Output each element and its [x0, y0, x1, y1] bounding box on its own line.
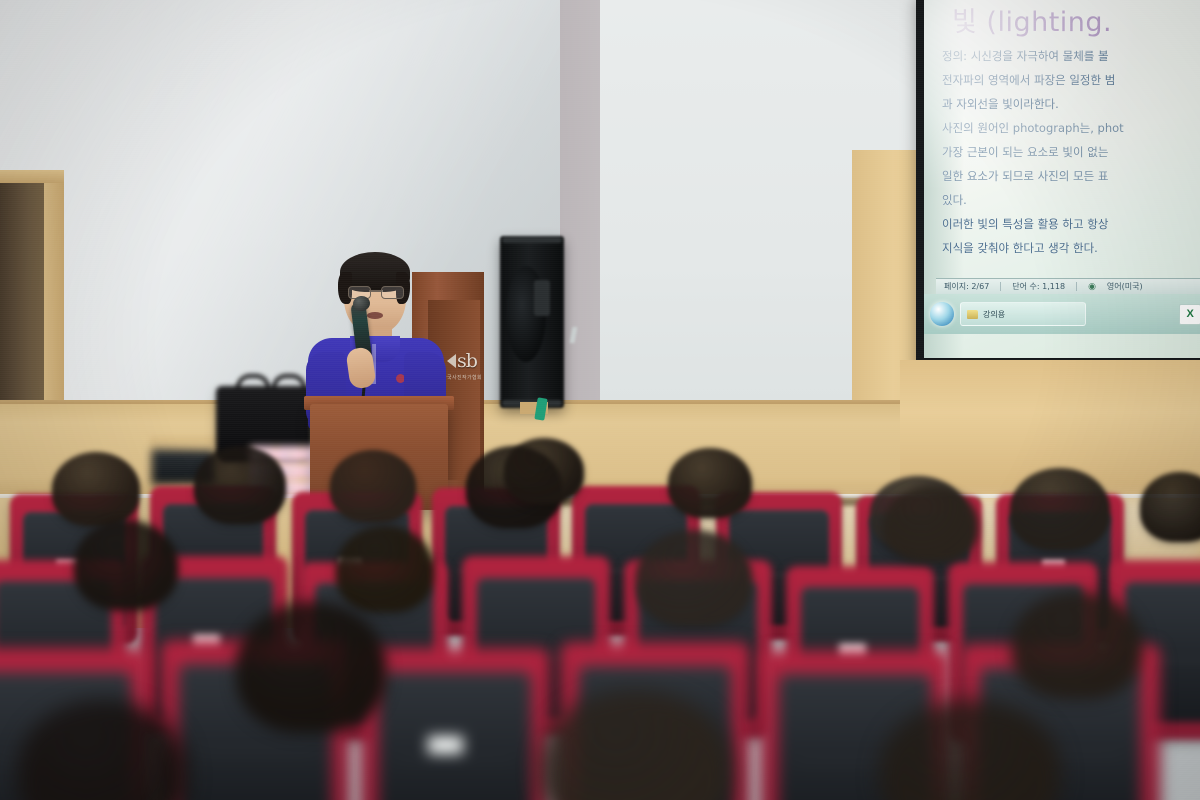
door-frame-top — [0, 170, 64, 183]
slide-line: 이러한 빛의 특성을 활용 하고 항상 — [942, 212, 1200, 236]
audience-head — [74, 520, 178, 610]
audience-head — [504, 438, 584, 504]
audience-head — [330, 450, 416, 522]
taskbar-button-lecture-folder[interactable]: 강의용 — [960, 302, 1086, 326]
folder-icon — [967, 310, 978, 319]
screen-glare — [924, 0, 1144, 194]
status-divider — [1076, 282, 1077, 291]
seat-number-tag — [428, 736, 462, 754]
pa-speaker — [500, 236, 564, 408]
language-indicator: 영어(미국) — [1107, 281, 1143, 292]
speaker-handle — [534, 280, 550, 316]
speaker-top-cap — [502, 237, 562, 243]
slide-line: 지식을 갖춰야 한다고 생각 한다. — [942, 236, 1200, 260]
excel-icon[interactable]: X — [1179, 304, 1200, 325]
audience-head — [194, 446, 286, 524]
audience-head — [52, 452, 140, 526]
taskbar-tray: X e — [1179, 303, 1200, 326]
status-divider — [1000, 282, 1001, 291]
taskbar-button-label: 강의용 — [983, 309, 1005, 320]
word-count: 단어 수: 1,118 — [1012, 281, 1065, 292]
audience-head — [1010, 468, 1110, 550]
presenter-mouth — [367, 312, 383, 319]
podium-logo-text: sb — [457, 350, 477, 372]
audience-head — [336, 526, 434, 612]
glasses-lens — [381, 286, 404, 299]
audience-head — [884, 486, 978, 562]
audience-head — [1012, 592, 1142, 698]
lecture-hall-photo: 빛 (lighting. 정의: 시신경을 자극하여 물체를 볼 전자파의 영역… — [0, 0, 1200, 800]
windows-start-orb-icon[interactable] — [930, 302, 954, 326]
windows-taskbar[interactable]: 강의용 X e — [924, 294, 1200, 334]
podium-logo-mark: sb — [447, 350, 477, 372]
projection-screen-frame: 빛 (lighting. 정의: 시신경을 자극하여 물체를 볼 전자파의 영역… — [916, 0, 1200, 368]
audience-seat — [360, 648, 550, 800]
audience-head — [236, 602, 386, 732]
projection-screen-surface: 빛 (lighting. 정의: 시신경을 자극하여 물체를 볼 전자파의 영역… — [924, 0, 1200, 358]
globe-icon: ◉ — [1088, 282, 1096, 292]
audience-head — [668, 448, 752, 518]
page-indicator: 페이지: 2/67 — [944, 281, 989, 292]
audience-head — [636, 530, 752, 626]
document-status-bar: 페이지: 2/67 단어 수: 1,118 ◉ 영어(미국) — [936, 278, 1200, 294]
